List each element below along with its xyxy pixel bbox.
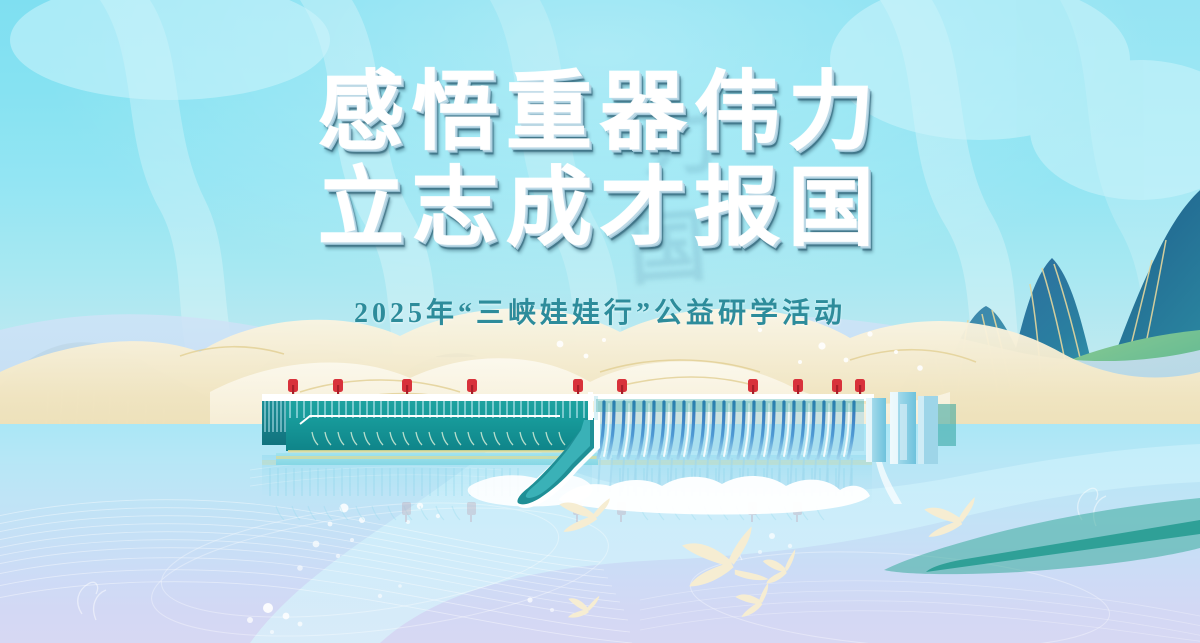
swallow-icon [559, 497, 974, 622]
poster-banner: 力 国 [0, 0, 1200, 643]
subtitle: 2025年“三峡娃娃行”公益研学活动 [0, 291, 1200, 331]
